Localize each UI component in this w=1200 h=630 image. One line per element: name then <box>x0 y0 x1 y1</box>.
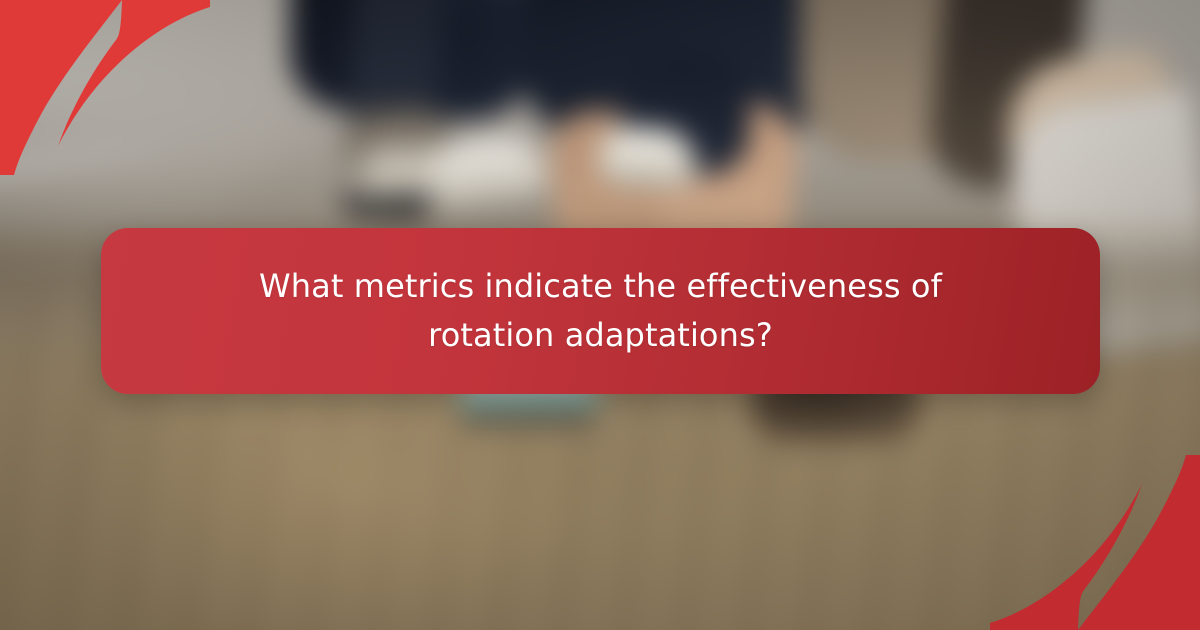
question-text: What metrics indicate the effectiveness … <box>221 262 981 360</box>
social-question-card: What metrics indicate the effectiveness … <box>0 0 1200 630</box>
question-card: What metrics indicate the effectiveness … <box>101 228 1100 394</box>
